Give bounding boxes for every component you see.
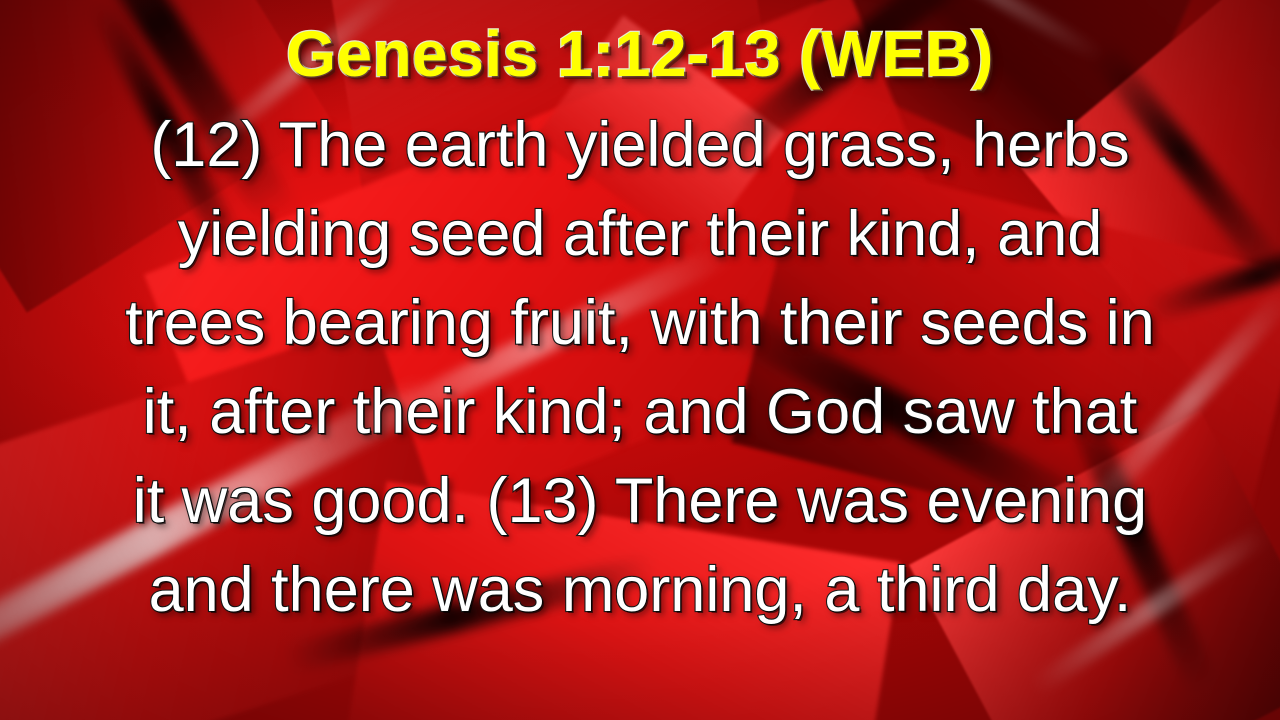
verse-line: yielding seed after their kind, and xyxy=(10,190,1270,279)
verse-line: it was good. (13) There was evening xyxy=(10,457,1270,546)
verse-slide: Genesis 1:12-13 (WEB) (12) The earth yie… xyxy=(0,0,1280,720)
verse-line: it, after their kind; and God saw that xyxy=(10,368,1270,457)
verse-line: and there was morning, a third day. xyxy=(10,546,1270,635)
verse-reference-title: Genesis 1:12-13 (WEB) xyxy=(286,22,994,87)
verse-line: (12) The earth yielded grass, herbs xyxy=(10,101,1270,190)
slide-content: Genesis 1:12-13 (WEB) (12) The earth yie… xyxy=(0,0,1280,720)
verse-line: trees bearing fruit, with their seeds in xyxy=(10,279,1270,368)
verse-body-text: (12) The earth yielded grass, herbs yiel… xyxy=(10,101,1270,635)
